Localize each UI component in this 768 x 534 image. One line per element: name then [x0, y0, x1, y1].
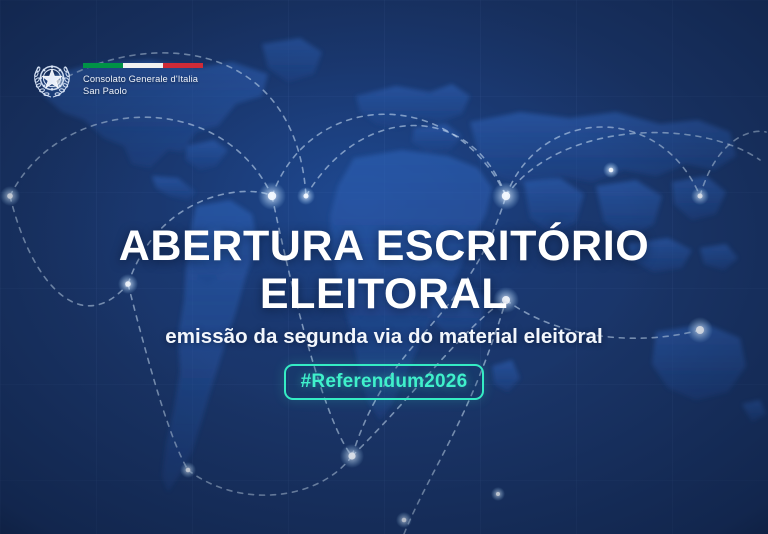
page-subtitle: emissão da segunda via do material eleit… [18, 324, 750, 350]
italy-tricolor-flag-icon [83, 63, 203, 68]
election-office-announcement-banner: Consolato Generale d'Italia San Paolo AB… [0, 0, 768, 534]
consulate-city: San Paolo [83, 86, 203, 97]
consulate-logo: Consolato Generale d'Italia San Paolo [30, 56, 203, 102]
hashtag-container: #Referendum2026 [18, 364, 750, 400]
italian-republic-emblem-icon [30, 56, 74, 102]
consulate-logo-text: Consolato Generale d'Italia San Paolo [83, 61, 203, 97]
announcement-content: ABERTURA ESCRITÓRIO ELEITORAL emissão da… [0, 222, 768, 400]
consulate-name: Consolato Generale d'Italia [83, 74, 203, 85]
page-title: ABERTURA ESCRITÓRIO ELEITORAL [18, 222, 750, 318]
hashtag-badge: #Referendum2026 [284, 364, 485, 400]
